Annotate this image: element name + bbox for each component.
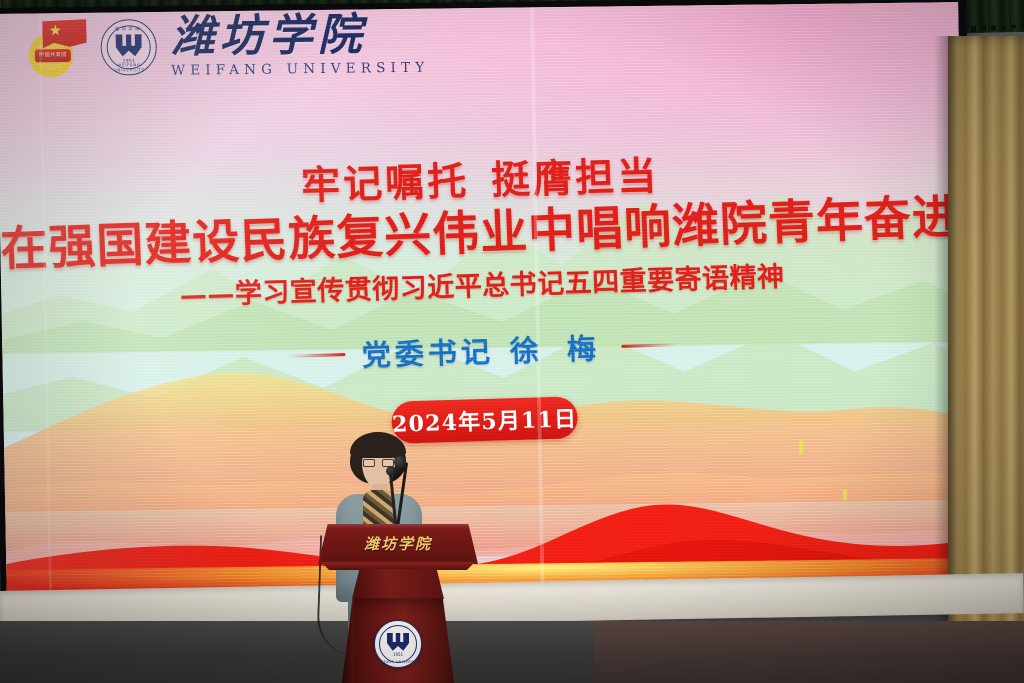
communist-youth-league-emblem-icon: 中国共青团	[24, 19, 87, 78]
speaking-podium: 潍坊学院 1951 WEIFANG UNIVERSITY	[318, 524, 478, 683]
seal-arc-top-text: 潍坊学院	[100, 26, 156, 33]
led-dead-pixel-artifact-2	[843, 490, 847, 500]
podium-seal-year: 1951	[375, 652, 421, 657]
speaker-title: 党委书记	[361, 334, 494, 372]
led-screen-frame: 中国共青团 潍坊学院 1951 WEIFANG UNIVERSITY 潍坊学院 …	[0, 0, 977, 618]
university-name-en: WEIFANG UNIVERSITY	[171, 62, 430, 79]
slide-speaker-credit: 党委书记徐 梅	[361, 325, 605, 374]
side-curtain-right	[948, 36, 1024, 658]
league-ribbon-text: 中国共青团	[35, 49, 71, 62]
podium-neck	[352, 569, 444, 599]
university-name-cn: 潍坊学院	[170, 13, 429, 60]
led-screen: 中国共青团 潍坊学院 1951 WEIFANG UNIVERSITY 潍坊学院 …	[0, 2, 969, 610]
microphone-capsule-2	[386, 466, 396, 476]
podium-nameplate: 潍坊学院	[318, 533, 478, 554]
slide-text-block: 牢记嘱托挺膺担当 在强国建设民族复兴伟业中唱响潍院青年奋进之歌 ——学习宣传贯彻…	[0, 154, 966, 446]
university-wordmark: 潍坊学院 WEIFANG UNIVERSITY	[170, 13, 429, 79]
headline-phrase-b: 挺膺担当	[490, 153, 660, 204]
podium-university-seal-icon: 1951 WEIFANG UNIVERSITY	[374, 620, 422, 668]
speaker-fringe	[350, 432, 406, 458]
seal-arc-bottom-text: WEIFANG UNIVERSITY	[101, 62, 157, 73]
decorative-dash-right	[621, 342, 677, 347]
led-dead-pixel-artifact	[799, 440, 803, 454]
stage-floor	[0, 621, 1024, 683]
podium-seal-en-text: WEIFANG UNIVERSITY	[375, 660, 421, 664]
slide-logo-row: 中国共青团 潍坊学院 1951 WEIFANG UNIVERSITY 潍坊学院 …	[24, 13, 429, 80]
weifang-university-seal-icon: 潍坊学院 1951 WEIFANG UNIVERSITY	[100, 19, 157, 76]
microphone-capsule-1	[394, 456, 406, 468]
red-flag-shape	[42, 19, 87, 50]
stage-photo-scene: 中国共青团 潍坊学院 1951 WEIFANG UNIVERSITY 潍坊学院 …	[0, 0, 1024, 683]
speaker-name: 徐 梅	[509, 331, 605, 368]
presentation-slide: 中国共青团 潍坊学院 1951 WEIFANG UNIVERSITY 潍坊学院 …	[0, 2, 969, 610]
decorative-dash-left	[290, 352, 346, 357]
podium-lip	[316, 562, 480, 570]
podium-column-edge	[342, 598, 354, 683]
slide-speaker-row: 党委书记徐 梅	[2, 314, 965, 385]
headline-phrase-a: 牢记嘱托	[301, 158, 471, 209]
